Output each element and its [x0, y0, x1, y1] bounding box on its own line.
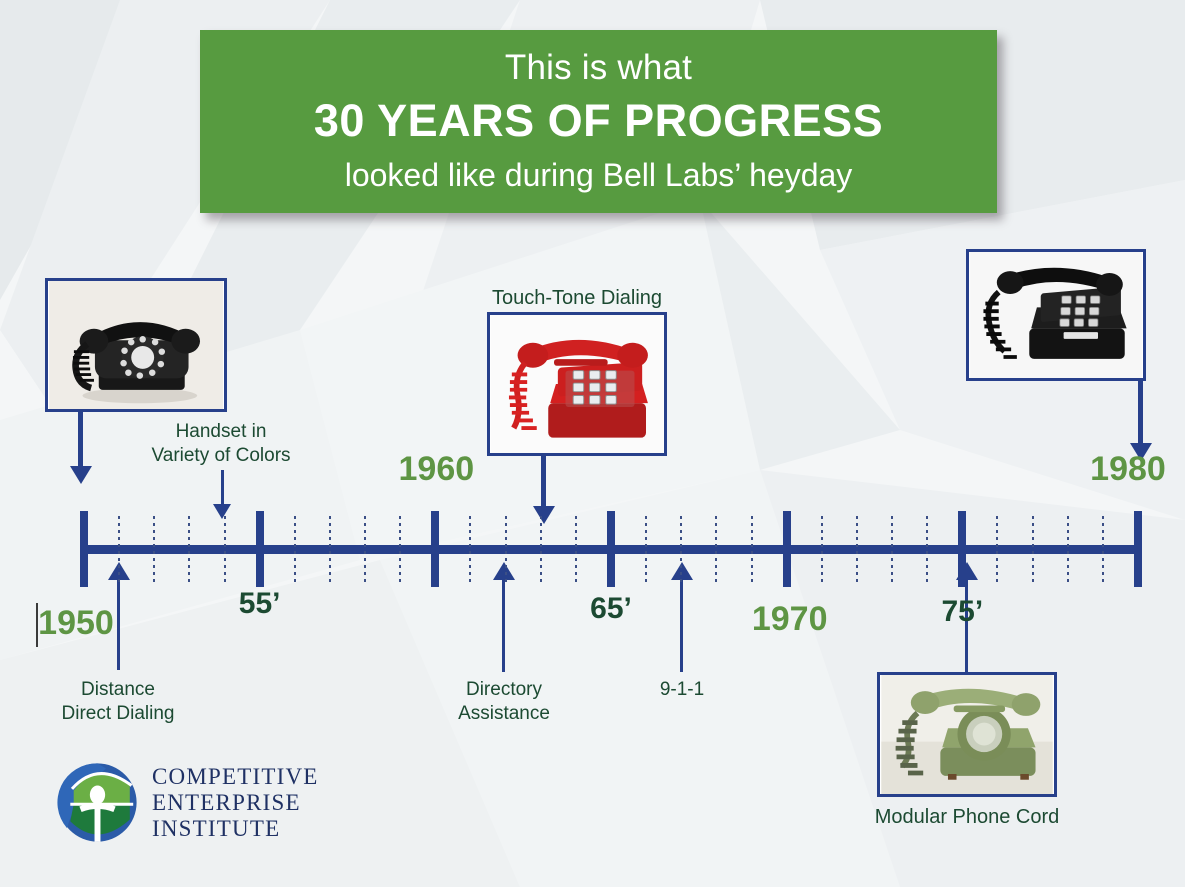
- timeline-minor-tick: [294, 516, 296, 582]
- timeline-major-tick-1950: [80, 511, 88, 587]
- timeline-major-tick-1960: [431, 511, 439, 587]
- timeline-minor-tick: [364, 516, 366, 582]
- timeline-minor-tick: [540, 516, 542, 582]
- timeline-major-tick-1980: [1134, 511, 1142, 587]
- timeline-major-tick-1965: [607, 511, 615, 587]
- timeline-minor-tick: [188, 516, 190, 582]
- timeline-major-tick-1955: [256, 511, 264, 587]
- timeline-minor-tick: [1032, 516, 1034, 582]
- logo-line-1: COMPETITIVE: [152, 764, 319, 790]
- banner-line-3: looked like during Bell Labs’ heyday: [345, 152, 853, 198]
- timeline-minor-tick: [891, 516, 893, 582]
- logo-line-3: INSTITUTE: [152, 816, 319, 842]
- timeline-minor-tick: [224, 516, 226, 582]
- timeline-minor-tick: [715, 516, 717, 582]
- timeline-minor-tick: [856, 516, 858, 582]
- timeline-minor-tick: [1102, 516, 1104, 582]
- timeline-minor-tick: [751, 516, 753, 582]
- timeline-minor-tick: [926, 516, 928, 582]
- timeline-label-1955: 55’: [239, 587, 281, 621]
- timeline-label-1960: 1960: [399, 450, 475, 489]
- timeline-label-1980: 1980: [1090, 450, 1166, 489]
- timeline-label-1950: 1950: [38, 604, 114, 643]
- timeline-minor-tick: [469, 516, 471, 582]
- timeline-label-1975: 75’: [941, 595, 983, 629]
- banner-line-2: 30 YEARS OF PROGRESS: [314, 90, 883, 152]
- title-banner: This is what 30 YEARS OF PROGRESS looked…: [200, 30, 997, 213]
- logo-line-2: ENTERPRISE: [152, 790, 319, 816]
- timeline-minor-tick: [575, 516, 577, 582]
- timeline-minor-tick: [645, 516, 647, 582]
- cei-logo: COMPETITIVE ENTERPRISE INSTITUTE: [55, 760, 319, 845]
- timeline-minor-tick: [821, 516, 823, 582]
- timeline-minor-tick: [399, 516, 401, 582]
- timeline-minor-tick: [680, 516, 682, 582]
- timeline-label-1970: 1970: [752, 600, 828, 639]
- timeline-minor-tick: [996, 516, 998, 582]
- banner-line-1: This is what: [505, 46, 692, 90]
- cei-wordmark: COMPETITIVE ENTERPRISE INSTITUTE: [152, 764, 319, 842]
- cei-globe-icon: [55, 760, 140, 845]
- timeline-minor-tick: [329, 516, 331, 582]
- timeline-minor-tick: [1067, 516, 1069, 582]
- timeline-major-tick-1970: [783, 511, 791, 587]
- timeline-minor-tick: [505, 516, 507, 582]
- timeline-label-1965: 65’: [590, 592, 632, 626]
- timeline-minor-tick: [153, 516, 155, 582]
- timeline-major-tick-1975: [958, 511, 966, 587]
- timeline-minor-tick: [118, 516, 120, 582]
